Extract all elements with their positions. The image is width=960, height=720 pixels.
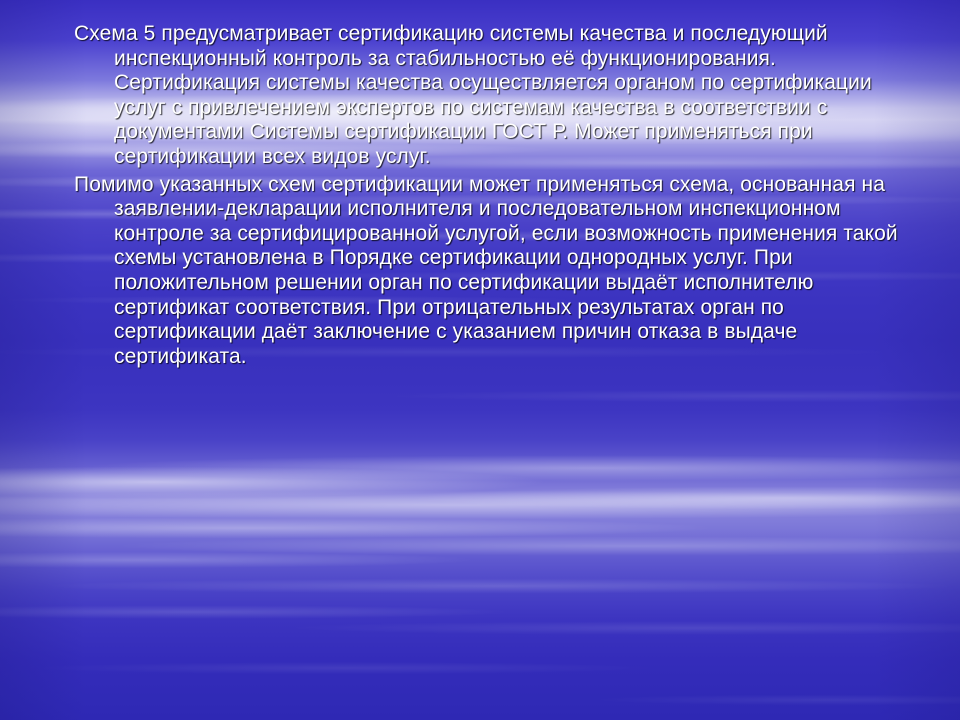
body-paragraph-2: Помимо указанных схем сертификации может…	[74, 173, 904, 370]
presentation-slide: Схема 5 предусматривает сертификацию сис…	[0, 0, 960, 720]
body-paragraph-1: Схема 5 предусматривает сертификацию сис…	[74, 22, 904, 170]
slide-body-text: Схема 5 предусматривает сертификацию сис…	[74, 22, 904, 369]
